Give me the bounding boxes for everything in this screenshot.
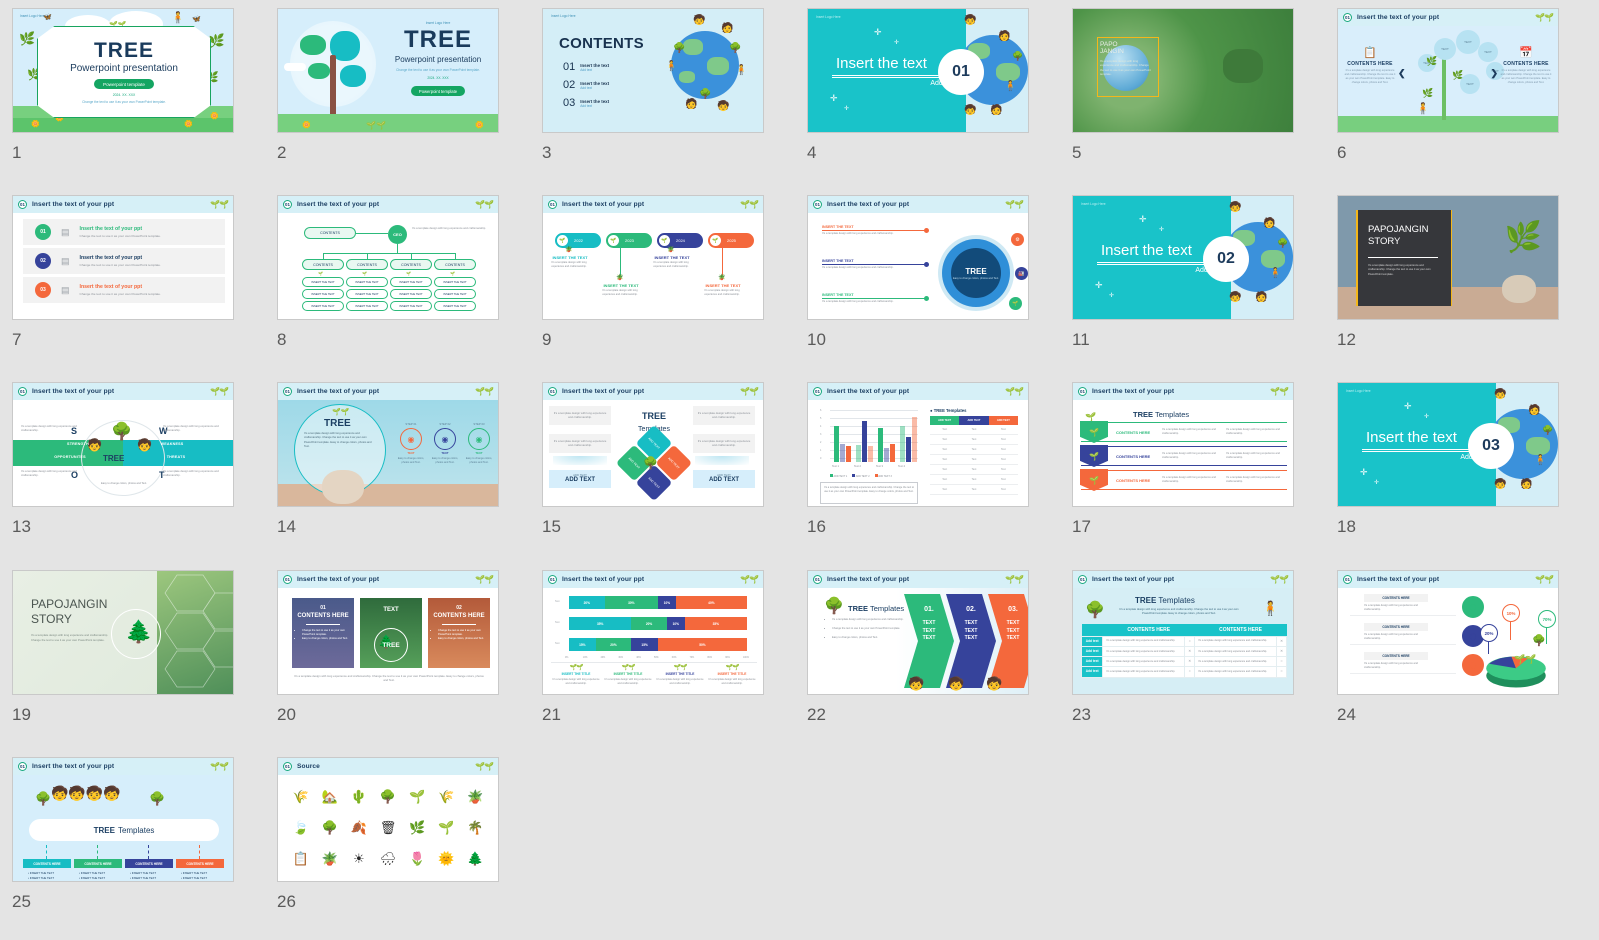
compost-bin-icon: 🗑 [380,820,397,836]
sprout-icon: 🌱🌱 [1514,654,1536,665]
slide-thumbnail-cell[interactable]: 01 Insert the text of your ppt 🌱🌱 🌱 TREE… [1072,382,1294,537]
slide-number-caption: 3 [542,143,764,163]
row-key: Add text [1082,667,1103,677]
slide-number-caption: 12 [1337,330,1559,350]
org-top-pill: CONTENTS [304,227,356,239]
chevron-number: 03. [988,606,1029,613]
y-tick-label: 3 [820,433,821,436]
bar-segment: 50% [658,638,747,651]
tabs-subtitle: Templates [118,826,154,835]
column-title: INSERT THE TITLE [707,672,757,676]
slide-thumbnail-cell[interactable]: Insert Logo Here ✛ ✛ ✛ ✛ Insert the text… [807,8,1029,163]
globe-arrows-slide: 01 Insert the text of your ppt 🌱🌱 INSERT… [808,196,1028,319]
timeline-year: 2022 [574,238,583,243]
slide-thumbnail[interactable]: 01 Insert the text of your ppt 🌱🌱 It's a… [542,382,764,507]
slide-thumbnail-cell[interactable]: 01 Insert the text of your ppt 🌱🌱 🌳 🧍 TR… [1072,570,1294,725]
slide-header: 01 Insert the text of your ppt 🌱🌱 [808,383,1028,400]
gift-icon: ◉ [400,428,422,450]
check-cell[interactable]: ○ [1277,657,1287,667]
ribbon-col1: It's a template design with long experie… [1162,452,1220,460]
table-cell: Text [930,475,959,484]
contents-item[interactable]: 02 Insert the text Add text [563,79,609,91]
data-table: CONTENTS HERECONTENTS HEREAdd text It's … [1081,624,1287,678]
tree-icon: 🌲 [125,619,152,645]
slide-thumbnail[interactable]: 01 Insert the text of your ppt 🌱🌱 🧒🧒🧒🧒 🌳… [12,757,234,882]
x-tick-label: Text 1 [832,465,839,468]
tab-list: • INSERT THE TEXT• INSERT THE TEXT• INSE… [125,871,173,882]
note-icon: ▤ [61,227,70,238]
slide-thumbnail[interactable]: 01 Insert the text of your ppt 🌱🌱 🌳 🧍 TR… [1072,570,1294,695]
list-item[interactable]: 02 ▤ Insert the text of your ppt Change … [23,248,225,274]
section-number: 03 [1468,423,1514,469]
row-label: Text [555,600,559,603]
contents-item-sub: Add text [580,104,609,108]
slide-header-title: Insert the text of your ppt [1092,576,1174,583]
sprout-icon: 🌱🌱 [740,575,758,584]
step-heading: STEP 03 [464,422,494,426]
item-number: 02 [35,253,51,269]
right-body: It's a template design with long experie… [1500,69,1552,86]
pie-legend-item: CONTENTS HERE It's a template design wit… [1350,594,1456,616]
list-item[interactable]: 01 ▤ Insert the text of your ppt Change … [23,219,225,245]
slide-thumbnail-cell[interactable]: 01 Insert the text of your ppt 🌱🌱 🌱 2022… [542,195,764,350]
slide-header: 01 Insert the text of your ppt 🌱🌱 [278,196,498,213]
calendar-plant-icon: 📅 [1500,46,1552,59]
table-title: TREE [1135,596,1156,605]
panel-head: CONTENTS HERE [292,613,354,620]
leaf-icon: ▤ [61,256,70,267]
table-cell: Text [930,445,959,454]
slide-header-badge: 01 [18,200,27,209]
bullet-item: Easy to change colors, photos and Text. [832,636,904,640]
slide-thumbnail-cell[interactable]: 01 Source 🌱🌱 🌾🏡🌵🌳🌱🌾🪴🍃🌳🍂🗑🌿🌱🌴📋🪴☀🌧🌷🌞🌲 26 [277,757,499,912]
slide-header-title: Insert the text of your ppt [32,388,114,395]
badge-icon: ⚙ [1011,233,1024,246]
factory-icon: ◉ [1462,596,1484,618]
slide-thumbnail-cell[interactable]: 01 Insert the text of your ppt 🌱🌱 🌱🌱 TRE… [277,382,499,537]
table-cell: It's a template design with long experie… [1195,646,1277,656]
story-title: PAPOJANGINSTORY [1368,224,1441,248]
timeline-icon: 🌱 [659,235,670,246]
legend-column: 🌱🌱 INSERT THE TITLE It's a template desi… [551,664,601,686]
slide-number-caption: 24 [1337,705,1559,725]
org-note: It's a template design with long experie… [412,227,490,231]
bar-segment: 20% [569,596,605,609]
slide-number-caption: 22 [807,705,1029,725]
slide-thumbnail-cell[interactable]: 01 Insert the text of your ppt 🌱🌱 INSERT… [807,195,1029,350]
story-title: PAPOJANGINSTORY [31,597,107,627]
slide-thumbnail[interactable]: 01 Insert the text of your ppt 🌱🌱 654321… [807,382,1029,507]
slide-thumbnail-cell[interactable]: PAPOJANGIN It's a template design with l… [1072,8,1294,163]
slide-header-title: Insert the text of your ppt [32,201,114,208]
sprout-icon: 🌱🌱 [475,762,493,771]
ribbon-heading: CONTENTS HERE [1116,430,1162,435]
org-branch: CONTENTS [302,259,344,270]
section-subtitle: Add text [1362,454,1486,461]
timeline-slide: 01 Insert the text of your ppt 🌱🌱 🌱 2022… [543,196,763,319]
sprout-icon: 🌱🌱 [210,762,228,771]
cover-slide: Insert Logo Here 🌿 🌿 🌿 🌿 🦋 🦋 🧍 🌱🌱 🌼 🌼 🌼 … [13,9,233,132]
org-leaf: INSERT THE TEXT [302,289,344,299]
check-cell[interactable]: ✕ [1185,646,1195,656]
slide-thumbnail-cell[interactable]: PAPOJANGINSTORY It's a template design w… [12,570,234,725]
bar [834,426,839,462]
slide-thumbnail-cell[interactable]: 01 Insert the text of your ppt 🌱🌱 01 CON… [277,570,499,725]
bar-segment: 40% [676,596,747,609]
slide-number-caption: 7 [12,330,234,350]
slide-header-title: Insert the text of your ppt [32,763,114,770]
logo-placeholder: Insert Logo Here [20,14,45,18]
y-tick-label: 0 [820,457,821,460]
slide-thumbnail-cell[interactable]: 01 Insert the text of your ppt 🌱🌱 CEO CO… [277,195,499,350]
timeline-node[interactable]: 🌱 2024 [657,233,703,248]
step-title: TREE [324,418,351,429]
ribbon-row[interactable]: 🌱 CONTENTS HERE It's a template design w… [1081,470,1287,490]
tree-icon: 🌳 [643,456,658,470]
slide-thumbnail[interactable]: Insert Logo Here ✛ ✛ ✛ ✛ Insert the text… [1337,382,1559,507]
bar-segment: 20% [596,638,632,651]
slide-header: 01 Insert the text of your ppt 🌱🌱 [1338,571,1558,588]
chart-table-slide: 01 Insert the text of your ppt 🌱🌱 654321… [808,383,1028,506]
cover-subtitle: Powerpoint presentation [70,63,178,74]
check-cell[interactable]: ✕ [1185,657,1195,667]
contents-item-label: Insert the text [580,99,609,104]
table-cell: Text [989,455,1018,464]
slide-thumbnail-cell[interactable]: 01 Insert the text of your ppt 🌱🌱 TEXTTE… [1337,8,1559,163]
slide-thumbnail[interactable]: 01 Insert the text of your ppt 🌱🌱 🌱 TREE… [1072,382,1294,507]
slide-thumbnail-cell[interactable]: 🌿 PAPOJANGINSTORY It's a template design… [1337,195,1559,350]
sprout-icon: 🌱🌱 [1005,575,1023,584]
timeline-title: INSERT THE TEXT [649,255,695,260]
document-chart-icon: 📋 [1344,46,1396,59]
ribbon-col2: It's a template design with long experie… [1226,428,1284,436]
timeline-node[interactable]: 🌱 2025 [708,233,754,248]
column-body: It's a template design with long experie… [551,678,601,686]
bar-segment: 35% [685,617,747,630]
plant-hand-icon: 🌱 [409,789,425,805]
section-number: 02 [1203,236,1249,282]
table-cell: It's a template design with long experie… [1195,657,1277,667]
slide-header: 01 Insert the text of your ppt 🌱🌱 [808,196,1028,213]
step-label: TEXT [396,451,426,455]
photo-panel: TEXT 🌲 TREE TEXT [360,598,422,668]
plant-time-icon: 🌱 [1080,445,1108,467]
table-cell: Text [959,475,988,484]
slide-header-badge: 01 [283,387,292,396]
slide-thumbnail[interactable]: Insert Logo Here 🌿 🌿 🌿 🌿 🦋 🦋 🧍 🌱🌱 🌼 🌼 🌼 … [12,8,234,133]
x-tick-label: 90% [725,657,730,659]
watering-pot-icon: 🪴 [467,789,483,805]
bar [900,426,905,462]
item-title: Insert the text of your ppt [80,284,161,290]
sprout-icon: 🌱🌱 [475,387,493,396]
slide-header: 01 Insert the text of your ppt 🌱🌱 [278,571,498,588]
arrow-body: It's a template design with long experie… [822,266,894,270]
table-title: ● TREE Templates [930,408,1018,413]
slide-thumbnail-cell[interactable]: 01 Insert the text of your ppt 🌱🌱 654321… [807,382,1029,537]
slide-header: 01 Insert the text of your ppt 🌱🌱 [1073,383,1293,400]
step-intro: It's a template design with long experie… [304,432,376,449]
contents-item-number: 02 [563,79,575,91]
slide-header-badge: 01 [1078,387,1087,396]
row-key: Add text [1082,657,1103,667]
sprout-leaves-icon: 🌿 [409,820,425,836]
bar [884,448,889,462]
slide-thumbnail-cell[interactable]: Insert Logo Here TREE Powerpoint present… [277,8,499,163]
tab-label[interactable]: CONTENTS HERE [125,859,173,868]
slide-thumbnail-cell[interactable]: 01 Insert the text of your ppt 🌱🌱 01 ▤ I… [12,195,234,350]
tab-label[interactable]: CONTENTS HERE [23,859,71,868]
pie-slide: 01 Insert the text of your ppt 🌱🌱 CONTEN… [1338,571,1558,694]
slide-thumbnail[interactable]: 01 Insert the text of your ppt 🌱🌱 CONTEN… [1337,570,1559,695]
slide-thumbnail[interactable]: Insert Logo Here CONTENTS 01 Insert the … [542,8,764,133]
x-tick-label: 70% [690,657,695,659]
legend-body: It's a template design with long experie… [1364,662,1428,670]
stacked-bar: 15%20%15%50% [569,638,747,651]
slide-thumbnail[interactable]: 01 Insert the text of your ppt 🌱🌱 🌳 TREE… [12,382,234,507]
slide-thumbnail[interactable]: Insert Logo Here TREE Powerpoint present… [277,8,499,133]
chevron-right-icon[interactable]: ❯ [1490,68,1498,79]
slide-thumbnail-cell[interactable]: Insert Logo Here ✛ ✛ ✛ ✛ Insert the text… [1072,195,1294,350]
list-item[interactable]: 03 ▤ Insert the text of your ppt Change … [23,277,225,303]
slide-thumbnail[interactable]: 01 Insert the text of your ppt 🌱🌱 🌳 TREE… [807,570,1029,695]
cover-button[interactable]: Powerpoint template [411,86,465,96]
slide-header-badge: 01 [283,575,292,584]
slide-thumbnail[interactable]: PAPOJANGINSTORY It's a template design w… [12,570,234,695]
seedling-icon: 🌱 [1080,421,1108,443]
row-label: Text [555,642,559,645]
y-tick-label: 6 [820,409,821,412]
slide-thumbnail[interactable]: Insert Logo Here ✛ ✛ ✛ ✛ Insert the text… [807,8,1029,133]
slide-thumbnail[interactable]: 🌿 PAPOJANGINSTORY It's a template design… [1337,195,1559,320]
org-leaf: INSERT THE TEXT [346,277,388,287]
percent-badge: 70% [1538,610,1556,628]
x-tick-label: 40% [636,657,641,659]
slide-thumbnail[interactable]: 01 Insert the text of your ppt 🌱🌱 CEO CO… [277,195,499,320]
slide-thumbnail[interactable]: 01 Insert the text of your ppt 🌱🌱 INSERT… [807,195,1029,320]
step-body: Easy to change colors, photos and Text. [430,457,460,465]
bar-segment: 15% [569,638,596,651]
page-title: CONTENTS [559,35,644,52]
row-key: Add text [1082,636,1103,646]
chevrons-title: TREE [848,604,868,613]
slide-thumbnail[interactable]: 01 Source 🌱🌱 🌾🏡🌵🌳🌱🌾🪴🍃🌳🍂🗑🌿🌱🌴📋🪴☀🌧🌷🌞🌲 [277,757,499,882]
slide-thumbnail-cell[interactable]: Insert Logo Here ✛ ✛ ✛ ✛ Insert the text… [1337,382,1559,537]
stacked-bar-slide: 01 Insert the text of your ppt 🌱🌱 20%30%… [543,571,763,694]
legend-entry: ADD TEXT 1 [830,474,847,478]
story-slide: PAPOJANGINSTORY It's a template design w… [13,571,233,694]
sprout-icon: 🌱🌱 [740,387,758,396]
x-tick-label: 100% [743,657,749,659]
section-title: Insert the text [1101,242,1192,259]
legend-body: It's a template design with long experie… [1364,633,1428,641]
item-sub: Change the text to use it as your own Po… [80,234,161,238]
check-cell[interactable]: ✕ [1277,646,1287,656]
ribbons-subtitle: Templates [1155,410,1189,419]
slide-number-caption: 13 [12,517,234,537]
slide-header-badge: 01 [548,575,557,584]
table-cell: It's a template design with long experie… [1103,667,1185,677]
timeline-node[interactable]: 🌱 2023 [606,233,652,248]
slide-thumbnail-cell[interactable]: Insert Logo Here 🌿 🌿 🌿 🌿 🦋 🦋 🧍 🌱🌱 🌼 🌼 🌼 … [12,8,234,163]
slide-thumbnail-cell[interactable]: 01 Insert the text of your ppt 🌱🌱 🌳 TREE… [807,570,1029,725]
check-cell[interactable]: ✕ [1277,636,1287,646]
org-leaf: INSERT THE TEXT [390,289,432,299]
timeline-icon: 🌱 [710,235,721,246]
bar-segment: 10% [658,596,676,609]
section-divider-slide: Insert Logo Here ✛ ✛ ✛ ✛ Insert the text… [1073,196,1293,319]
section-subtitle: Add text [1097,267,1221,274]
slide-thumbnail-cell[interactable]: 01 Insert the text of your ppt 🌱🌱 It's a… [542,382,764,537]
table-cell: Text [959,465,988,474]
arrow-body: It's a template design with long experie… [822,300,894,304]
tab-label[interactable]: CONTENTS HERE [176,859,224,868]
sprout-icon: 🌱🌱 [740,200,758,209]
timeline-icon: 🌱 [557,235,568,246]
slide-number-caption: 8 [277,330,499,350]
slide-header: 01 Source 🌱🌱 [278,758,498,775]
sprouts-icon: 🌱 [1080,469,1108,491]
section-title: Insert the text [836,55,927,72]
slide-thumbnail-cell[interactable]: 01 Insert the text of your ppt 🌱🌱 🧒🧒🧒🧒 🌳… [12,757,234,912]
table-row: Add text It's a template design with lon… [1082,657,1287,667]
table-cell: Text [959,455,988,464]
right-content-block: 📅 CONTENTS HERE It's a template design w… [1500,46,1552,86]
swot-body: It's a template design with long experie… [163,470,227,478]
x-tick-label: Text 4 [898,465,905,468]
steps-slide: 01 Insert the text of your ppt 🌱🌱 🌱🌱 TRE… [278,383,498,506]
slide-thumbnail-cell[interactable]: 01 Insert the text of your ppt 🌱🌱 CONTEN… [1337,570,1559,725]
row-label: Text [555,621,559,624]
slide-header-badge: 01 [813,200,822,209]
y-tick-label: 4 [820,425,821,428]
chevron-left-icon[interactable]: ❮ [1398,68,1406,79]
chart-legend: ADD TEXT 1 ADD TEXT 2 ADD TEXT 3 [830,474,892,478]
contents-item-label: Insert the text [580,63,609,68]
slide-header: 01 Insert the text of your ppt 🌱🌱 [13,383,233,400]
percent-badge: 10% [1502,604,1520,622]
table-row: TextTextText [930,485,1018,495]
panel-bullet: Easy to change colors, photos and Text. [438,637,490,641]
slide-thumbnail[interactable]: 01 Insert the text of your ppt 🌱🌱 01 CON… [277,570,499,695]
swot-center-note: Easy to change colors, photos and Text. [101,482,147,486]
legend-entry: ADD TEXT 2 [852,474,869,478]
slide-thumbnail[interactable]: PAPOJANGIN It's a template design with l… [1072,8,1294,133]
slide-header: 01 Insert the text of your ppt 🌱🌱 [543,196,763,213]
bar [890,444,895,462]
ribbon-col2: It's a template design with long experie… [1226,476,1284,484]
slide-header: 01 Insert the text of your ppt 🌱🌱 [1073,571,1293,588]
check-cell[interactable]: ○ [1277,667,1287,677]
check-cell[interactable]: ○ [1185,636,1195,646]
table-slide: 01 Insert the text of your ppt 🌱🌱 🌳 🧍 TR… [1073,571,1293,694]
slide-thumbnail[interactable]: 01 Insert the text of your ppt 🌱🌱 🌱🌱 TRE… [277,382,499,507]
step-label: TEXT [464,451,494,455]
slide-header: 01 Insert the text of your ppt 🌱🌱 [1338,9,1558,26]
ribbon-row[interactable]: 🌱 CONTENTS HERE It's a template design w… [1081,422,1287,442]
x-tick-label: 50% [654,657,659,659]
rake-icon: 🍂 [351,820,367,836]
org-leaf: INSERT THE TEXT [434,277,476,287]
table-cell: Text [959,425,988,434]
photo-body: It's a template design with long experie… [1100,59,1152,77]
slide-thumbnail-cell[interactable]: 01 Insert the text of your ppt 🌱🌱 🌳 TREE… [12,382,234,537]
chevron-text: TEXTTEXTTEXT [946,620,996,643]
sprout-icon: 🌱🌱 [210,200,228,209]
timeline-title: INSERT THE TEXT [598,283,644,288]
item-title: Insert the text of your ppt [80,226,161,232]
cover-note: Change the text to use it as your own Po… [384,68,492,73]
org-leaf: INSERT THE TEXT [302,277,344,287]
section-subtitle: Add text [832,80,956,87]
pie-legend-item: CONTENTS HERE It's a template design wit… [1350,623,1456,645]
sprout-icon: 🌱🌱 [1270,387,1288,396]
slide-thumbnail-cell[interactable]: Insert Logo Here CONTENTS 01 Insert the … [542,8,764,163]
swot-body: It's a template design with long experie… [21,425,85,433]
slide-header-title: Source [297,763,320,770]
potted-flower-icon: 🪴 [322,851,338,867]
table-cell: Text [930,435,959,444]
slide-number-caption: 19 [12,705,234,725]
legend-heading: CONTENTS HERE [1364,623,1428,631]
section-divider-slide: Insert Logo Here ✛ ✛ ✛ ✛ Insert the text… [808,9,1028,132]
slide-number-caption: 25 [12,892,234,912]
slide-thumbnail[interactable]: 01 Insert the text of your ppt 🌱🌱 TEXTTE… [1337,8,1559,133]
bar [840,444,845,462]
slide-thumbnail[interactable]: 01 Insert the text of your ppt 🌱🌱 🌱 2022… [542,195,764,320]
tree-bubbles-slide: 01 Insert the text of your ppt 🌱🌱 TEXTTE… [1338,9,1558,132]
add-text-box[interactable]: ADD TEXTADD TEXT [549,470,611,488]
timeline-year: 2025 [727,238,736,243]
slide-thumbnail[interactable]: 01 Insert the text of your ppt 🌱🌱 01 ▤ I… [12,195,234,320]
slide-thumbnail-cell[interactable]: 01 Insert the text of your ppt 🌱🌱 20%30%… [542,570,764,725]
contents-slide: Insert Logo Here CONTENTS 01 Insert the … [543,9,763,132]
x-tick-label: Text 2 [854,465,861,468]
bar [878,428,883,462]
check-cell[interactable]: ○ [1185,667,1195,677]
slide-header-title: Insert the text of your ppt [827,388,909,395]
tab-label[interactable]: CONTENTS HERE [74,859,122,868]
slide-header: 01 Insert the text of your ppt 🌱🌱 [278,383,498,400]
slide-thumbnail[interactable]: 01 Insert the text of your ppt 🌱🌱 20%30%… [542,570,764,695]
stacked-bar: 35%20%10%35% [569,617,747,630]
drop-icon: ▤ [61,285,70,296]
logo-placeholder: Insert Logo Here [1081,202,1106,206]
timeline-node[interactable]: 🌱 2022 [555,233,601,248]
contents-item[interactable]: 01 Insert the text Add text [563,61,609,73]
sprout-icon: 🌱🌱 [707,664,757,671]
slide-header-badge: 01 [1078,575,1087,584]
table-cell: It's a template design with long experie… [1103,646,1185,656]
add-text-box[interactable]: ADD TEXTADD TEXT [693,470,755,488]
orgchart-slide: 01 Insert the text of your ppt 🌱🌱 CEO CO… [278,196,498,319]
panel-bullet: Easy to change colors, photos and Text. [302,637,354,641]
slide-number-caption: 5 [1072,143,1294,163]
table-row: TextTextText [930,445,1018,455]
slide-header-title: Insert the text of your ppt [827,201,909,208]
ribbon-row[interactable]: 🌱 CONTENTS HERE It's a template design w… [1081,446,1287,466]
org-branch: CONTENTS [346,259,388,270]
cover-button[interactable]: Powerpoint template [94,79,154,89]
bar-segment: 35% [569,617,631,630]
contents-item[interactable]: 03 Insert the text Add text [563,97,609,109]
badge-icon: 🏭 [1015,267,1028,280]
story-body: It's a template design with long experie… [31,633,111,643]
slide-number-caption: 16 [807,517,1029,537]
slide-thumbnail[interactable]: Insert Logo Here ✛ ✛ ✛ ✛ Insert the text… [1072,195,1294,320]
slide-header-badge: 01 [813,575,822,584]
slide-header-badge: 01 [548,387,557,396]
